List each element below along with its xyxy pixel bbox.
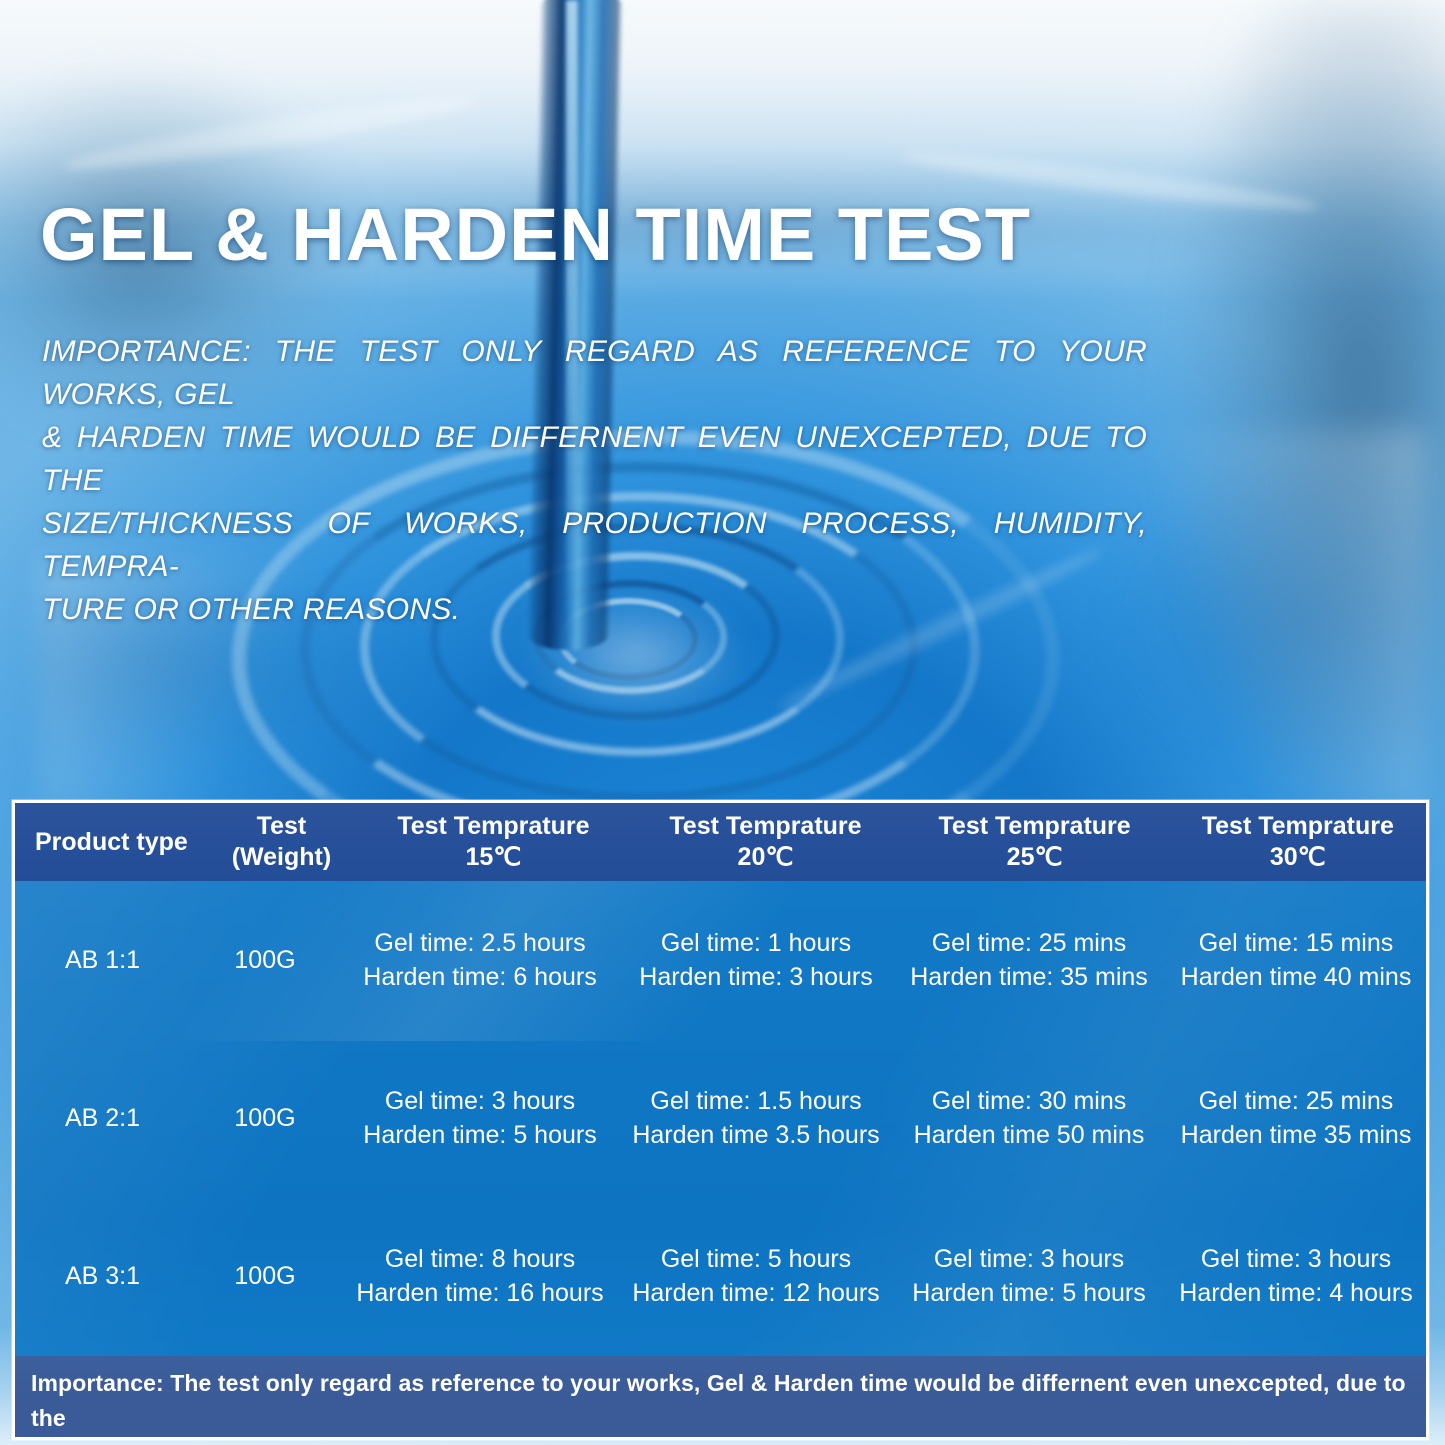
column-header-temp-15-line2: 15℃ bbox=[355, 842, 631, 873]
column-header-temp-20-line1: Test Temprature bbox=[631, 811, 899, 842]
cell-temp-15-gel: Gel time: 2.5 hours bbox=[340, 926, 620, 960]
cell-temp-20-gel: Gel time: 1 hours bbox=[620, 926, 892, 960]
cell-temp-25-gel: Gel time: 30 mins bbox=[892, 1084, 1166, 1118]
cell-weight: 100G bbox=[190, 1101, 340, 1135]
poster-page: GEL & HARDEN TIME TEST IMPORTANCE: THE T… bbox=[0, 0, 1445, 1445]
cell-product-type: AB 1:1 bbox=[15, 943, 190, 977]
cell-temp-30-harden: Harden time 35 mins bbox=[1166, 1118, 1426, 1152]
cell-temp-30: Gel time: 25 mins Harden time 35 mins bbox=[1166, 1084, 1426, 1152]
cell-temp-15-gel: Gel time: 3 hours bbox=[340, 1084, 620, 1118]
table-row: AB 3:1 100G Gel time: 8 hours Harden tim… bbox=[15, 1197, 1426, 1355]
column-header-temp-25-line1: Test Temprature bbox=[900, 811, 1170, 842]
cell-temp-30-harden: Harden time: 4 hours bbox=[1166, 1276, 1426, 1310]
cell-temp-20-gel: Gel time: 5 hours bbox=[620, 1242, 892, 1276]
cell-temp-20-harden: Harden time: 3 hours bbox=[620, 960, 892, 994]
cell-temp-25-gel: Gel time: 25 mins bbox=[892, 926, 1166, 960]
cell-temp-20-harden: Harden time: 12 hours bbox=[620, 1276, 892, 1310]
column-header-product-type: Product type bbox=[15, 803, 208, 881]
cell-temp-20-gel: Gel time: 1.5 hours bbox=[620, 1084, 892, 1118]
cell-product-type: AB 3:1 bbox=[15, 1259, 190, 1293]
column-header-test-weight-line2: (Weight) bbox=[208, 842, 356, 873]
cell-temp-15: Gel time: 3 hours Harden time: 5 hours bbox=[340, 1084, 620, 1152]
cell-temp-15: Gel time: 2.5 hours Harden time: 6 hours bbox=[340, 926, 620, 994]
cell-temp-25-harden: Harden time: 5 hours bbox=[892, 1276, 1166, 1310]
cell-temp-30-harden: Harden time 40 mins bbox=[1166, 960, 1426, 994]
cell-temp-15-gel: Gel time: 8 hours bbox=[340, 1242, 620, 1276]
cell-temp-15-harden: Harden time: 16 hours bbox=[340, 1276, 620, 1310]
gel-harden-time-table: Product type Test (Weight) Test Tempratu… bbox=[12, 800, 1429, 1440]
table-body: AB 1:1 100G Gel time: 2.5 hours Harden t… bbox=[15, 881, 1426, 1356]
cell-temp-25: Gel time: 30 mins Harden time 50 mins bbox=[892, 1084, 1166, 1152]
table-row: AB 1:1 100G Gel time: 2.5 hours Harden t… bbox=[15, 881, 1426, 1039]
column-header-test-weight: Test (Weight) bbox=[208, 803, 356, 881]
column-header-temp-30-line2: 30℃ bbox=[1170, 842, 1426, 873]
column-header-temp-30-line1: Test Temprature bbox=[1170, 811, 1426, 842]
cell-temp-30: Gel time: 3 hours Harden time: 4 hours bbox=[1166, 1242, 1426, 1310]
cell-temp-30-gel: Gel time: 3 hours bbox=[1166, 1242, 1426, 1276]
cell-weight: 100G bbox=[190, 1259, 340, 1293]
cell-product-type: AB 2:1 bbox=[15, 1101, 190, 1135]
column-header-temp-30: Test Temprature 30℃ bbox=[1170, 803, 1426, 881]
table-header-row: Product type Test (Weight) Test Tempratu… bbox=[15, 803, 1426, 881]
cell-temp-25-harden: Harden time 50 mins bbox=[892, 1118, 1166, 1152]
cell-temp-25-gel: Gel time: 3 hours bbox=[892, 1242, 1166, 1276]
cell-temp-15: Gel time: 8 hours Harden time: 16 hours bbox=[340, 1242, 620, 1310]
cell-temp-20: Gel time: 1.5 hours Harden time 3.5 hour… bbox=[620, 1084, 892, 1152]
table-footer-line-2: size/thickness of works, production proc… bbox=[31, 1436, 1410, 1440]
column-header-test-weight-line1: Test bbox=[208, 811, 356, 842]
hero-importance-line-2: & HARDEN TIME WOULD BE DIFFERNENT EVEN U… bbox=[42, 416, 1147, 502]
cell-temp-30-gel: Gel time: 15 mins bbox=[1166, 926, 1426, 960]
cell-temp-20: Gel time: 5 hours Harden time: 12 hours bbox=[620, 1242, 892, 1310]
page-title: GEL & HARDEN TIME TEST bbox=[40, 198, 1031, 272]
table-footer-note: Importance: The test only regard as refe… bbox=[15, 1356, 1426, 1440]
table-row: AB 2:1 100G Gel time: 3 hours Harden tim… bbox=[15, 1039, 1426, 1197]
hero-importance-line-3: SIZE/THICKNESS OF WORKS, PRODUCTION PROC… bbox=[42, 502, 1147, 588]
cell-temp-25: Gel time: 25 mins Harden time: 35 mins bbox=[892, 926, 1166, 994]
cell-temp-25: Gel time: 3 hours Harden time: 5 hours bbox=[892, 1242, 1166, 1310]
cell-temp-15-harden: Harden time: 6 hours bbox=[340, 960, 620, 994]
hero-importance-line-1: IMPORTANCE: THE TEST ONLY REGARD AS REFE… bbox=[42, 330, 1147, 416]
cell-weight: 100G bbox=[190, 943, 340, 977]
cell-temp-20: Gel time: 1 hours Harden time: 3 hours bbox=[620, 926, 892, 994]
table-footer-line-1: Importance: The test only regard as refe… bbox=[31, 1366, 1410, 1436]
cell-temp-30-gel: Gel time: 25 mins bbox=[1166, 1084, 1426, 1118]
cell-temp-25-harden: Harden time: 35 mins bbox=[892, 960, 1166, 994]
column-header-temp-25: Test Temprature 25℃ bbox=[900, 803, 1170, 881]
cell-temp-20-harden: Harden time 3.5 hours bbox=[620, 1118, 892, 1152]
hero-importance-line-4: TURE OR OTHER REASONS. bbox=[42, 588, 1147, 631]
column-header-product-type-line1: Product type bbox=[35, 827, 208, 858]
column-header-temp-15: Test Temprature 15℃ bbox=[355, 803, 631, 881]
hero-importance-note: IMPORTANCE: THE TEST ONLY REGARD AS REFE… bbox=[42, 330, 1147, 631]
cell-temp-30: Gel time: 15 mins Harden time 40 mins bbox=[1166, 926, 1426, 994]
cell-temp-15-harden: Harden time: 5 hours bbox=[340, 1118, 620, 1152]
column-header-temp-15-line1: Test Temprature bbox=[355, 811, 631, 842]
column-header-temp-20: Test Temprature 20℃ bbox=[631, 803, 899, 881]
column-header-temp-25-line2: 25℃ bbox=[900, 842, 1170, 873]
column-header-temp-20-line2: 20℃ bbox=[631, 842, 899, 873]
